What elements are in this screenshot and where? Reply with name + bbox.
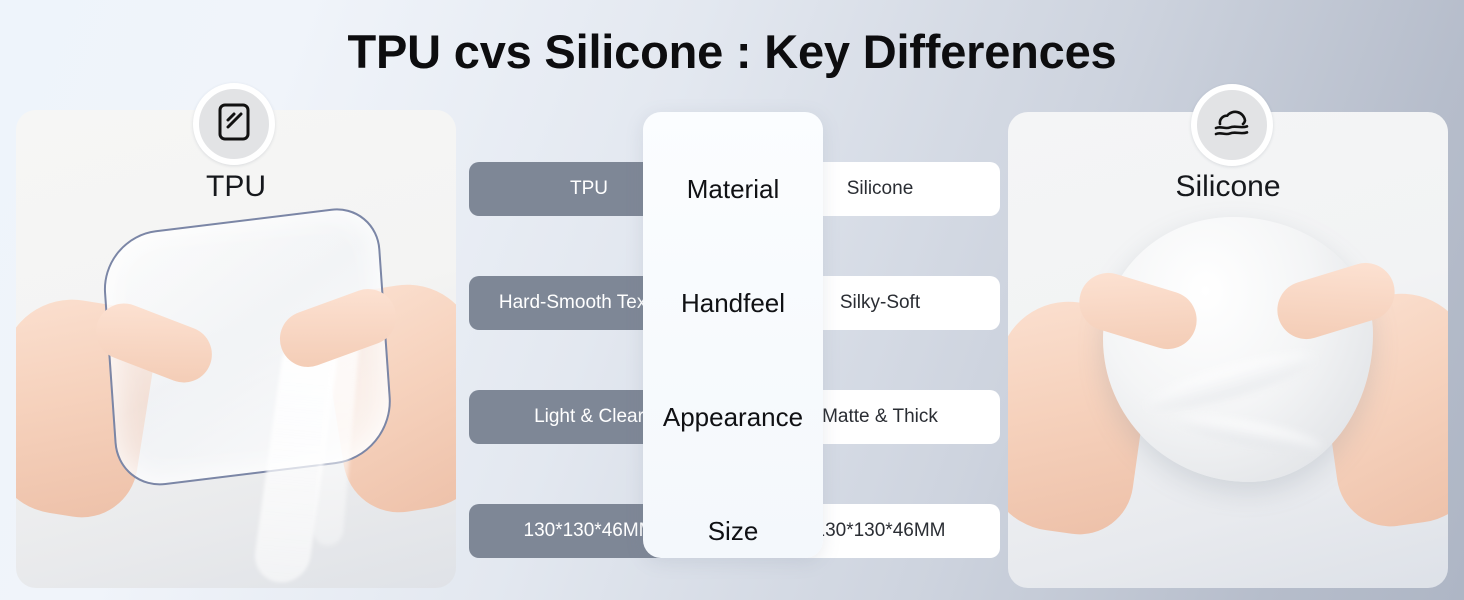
attribute-label-handfeel: Handfeel <box>623 288 843 319</box>
silicone-cover-object <box>1103 217 1373 482</box>
silicone-fold <box>1142 343 1318 420</box>
tpu-badge <box>193 83 275 165</box>
attribute-label-material: Material <box>623 174 843 205</box>
silicone-fold <box>1172 409 1324 457</box>
page-title: TPU cvs Silicone : Key Differences <box>0 24 1464 79</box>
comparison-infographic: TPU cvs Silicone : Key Differences TPU <box>0 0 1464 600</box>
silicone-panel-label: Silicone <box>1008 170 1448 204</box>
tpu-panel-label: TPU <box>16 170 456 204</box>
soft-cloud-icon <box>1211 104 1253 147</box>
glossy-sheet-icon <box>217 102 251 147</box>
attribute-label-size: Size <box>623 516 843 547</box>
silicone-product-panel: Silicone <box>1008 112 1448 588</box>
silicone-badge <box>1191 84 1273 166</box>
attribute-label-appearance: Appearance <box>623 402 843 433</box>
tpu-product-panel: TPU <box>16 110 456 588</box>
attribute-card: Material Handfeel Appearance Size <box>643 112 823 558</box>
